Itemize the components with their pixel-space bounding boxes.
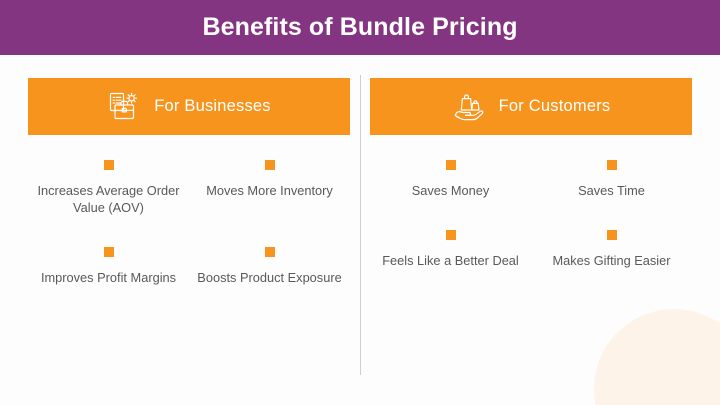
benefit-item: Makes Gifting Easier: [531, 230, 692, 269]
column-header-label: For Customers: [499, 97, 611, 116]
benefit-item: Improves Profit Margins: [28, 247, 189, 286]
page-title: Benefits of Bundle Pricing: [202, 13, 517, 42]
orange-square-bullet-icon: [104, 247, 114, 257]
benefit-item: Boosts Product Exposure: [189, 247, 350, 286]
benefit-label: Feels Like a Better Deal: [382, 252, 519, 269]
benefit-label: Makes Gifting Easier: [552, 252, 670, 269]
benefit-item: Increases Average Order Value (AOV): [28, 160, 189, 216]
slide-canvas: Benefits of Bundle Pricing: [0, 0, 720, 405]
benefit-label: Increases Average Order Value (AOV): [34, 182, 183, 216]
orange-square-bullet-icon: [607, 160, 617, 170]
hand-holding-shopping-bags-icon: [452, 90, 486, 124]
benefit-label: Improves Profit Margins: [41, 269, 176, 286]
benefit-label: Saves Money: [412, 182, 490, 199]
column-header-label: For Businesses: [154, 97, 271, 116]
slide-header-band: Benefits of Bundle Pricing: [0, 0, 720, 55]
benefit-label: Moves More Inventory: [206, 182, 333, 199]
column-header-businesses[interactable]: For Businesses: [28, 78, 350, 135]
orange-square-bullet-icon: [265, 160, 275, 170]
orange-square-bullet-icon: [104, 160, 114, 170]
benefits-grid-customers: Saves Money Saves Time Feels Like a Bett…: [370, 160, 692, 269]
benefit-label: Boosts Product Exposure: [197, 269, 341, 286]
column-header-customers[interactable]: For Customers: [370, 78, 692, 135]
benefits-grid-businesses: Increases Average Order Value (AOV) Move…: [28, 160, 350, 286]
orange-square-bullet-icon: [607, 230, 617, 240]
benefit-item: Saves Money: [370, 160, 531, 199]
orange-square-bullet-icon: [446, 230, 456, 240]
column-divider: [360, 75, 361, 375]
orange-square-bullet-icon: [446, 160, 456, 170]
benefit-item: Moves More Inventory: [189, 160, 350, 216]
benefit-item: Feels Like a Better Deal: [370, 230, 531, 269]
benefit-label: Saves Time: [578, 182, 645, 199]
slide-body: For Businesses Increases Average Order V…: [0, 55, 720, 405]
benefit-item: Saves Time: [531, 160, 692, 199]
briefcase-document-gear-icon: [107, 90, 141, 124]
orange-square-bullet-icon: [265, 247, 275, 257]
